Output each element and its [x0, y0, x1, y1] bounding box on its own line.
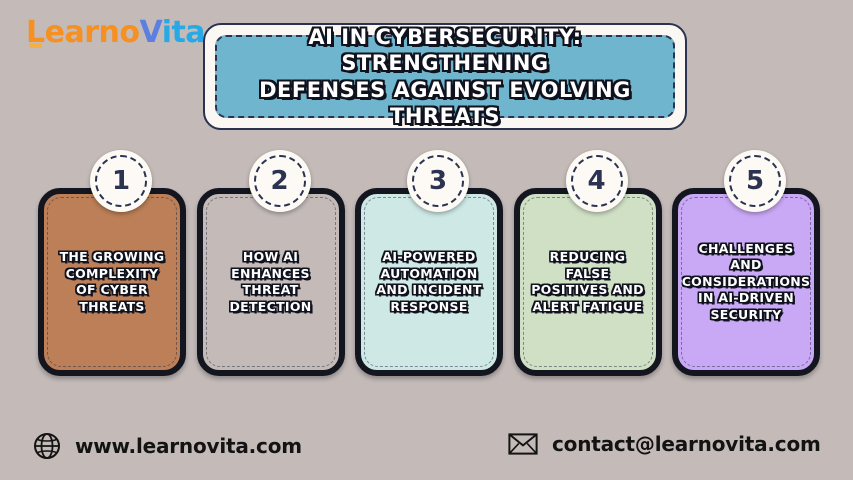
card-label: Challenges and Considerations in AI-Driv… — [681, 241, 811, 324]
title-frame: AI in Cybersecurity: Strengthening Defen… — [203, 23, 687, 130]
title-banner: AI in Cybersecurity: Strengthening Defen… — [215, 35, 675, 118]
card-body-5: Challenges and Considerations in AI-Driv… — [672, 188, 820, 376]
page-title-line-2: Defenses Against Evolving Threats — [259, 78, 631, 128]
card-number-badge: 1 — [90, 150, 152, 212]
card-number-badge: 3 — [407, 150, 469, 212]
card-inner-3: AI-Powered Automation and Incident Respo… — [364, 197, 494, 367]
card-label: How AI Enhances Threat Detection — [207, 249, 335, 315]
card-item[interactable]: Challenges and Considerations in AI-Driv… — [672, 188, 820, 376]
card-inner-2: How AI Enhances Threat Detection — [206, 197, 336, 367]
envelope-icon — [508, 432, 538, 456]
badge-number: 4 — [587, 168, 605, 194]
footer: www.learnovita.com contact@learnovita.co… — [0, 424, 853, 480]
card-item[interactable]: Reducing False Positives and Alert Fatig… — [514, 188, 662, 376]
card-number-badge: 5 — [724, 150, 786, 212]
logo-text-ita: ita — [162, 15, 205, 50]
logo-text-v: V — [139, 15, 161, 50]
globe-icon — [33, 432, 61, 460]
card-label: The Growing Complexity of Cyber Threats — [48, 249, 176, 315]
card-body-1: The Growing Complexity of Cyber Threats — [38, 188, 186, 376]
logo-text-learno: Learno — [26, 15, 139, 50]
card-number-badge: 2 — [249, 150, 311, 212]
badge-number: 1 — [112, 168, 130, 194]
cards-row: The Growing Complexity of Cyber Threats … — [38, 188, 820, 376]
card-inner-5: Challenges and Considerations in AI-Driv… — [681, 197, 811, 367]
card-item[interactable]: AI-Powered Automation and Incident Respo… — [355, 188, 503, 376]
website-url: www.learnovita.com — [75, 434, 302, 458]
card-inner-4: Reducing False Positives and Alert Fatig… — [523, 197, 653, 367]
card-body-2: How AI Enhances Threat Detection — [197, 188, 345, 376]
card-body-3: AI-Powered Automation and Incident Respo… — [355, 188, 503, 376]
brand-logo: LearnoVita — [26, 18, 205, 48]
card-label: AI-Powered Automation and Incident Respo… — [365, 249, 493, 315]
card-inner-1: The Growing Complexity of Cyber Threats — [47, 197, 177, 367]
infographic-canvas: LearnoVita AI in Cybersecurity: Strength… — [0, 0, 853, 480]
badge-number: 3 — [429, 168, 447, 194]
email-address: contact@learnovita.com — [552, 432, 821, 456]
card-number-badge: 4 — [566, 150, 628, 212]
badge-number: 5 — [746, 168, 764, 194]
logo-underscore-mark — [29, 43, 42, 48]
card-label: Reducing False Positives and Alert Fatig… — [524, 249, 652, 315]
footer-website[interactable]: www.learnovita.com — [33, 432, 302, 460]
card-item[interactable]: The Growing Complexity of Cyber Threats … — [38, 188, 186, 376]
card-item[interactable]: How AI Enhances Threat Detection 2 — [197, 188, 345, 376]
card-body-4: Reducing False Positives and Alert Fatig… — [514, 188, 662, 376]
footer-email[interactable]: contact@learnovita.com — [508, 432, 821, 456]
page-title: AI in Cybersecurity: Strengthening Defen… — [217, 24, 673, 129]
page-title-line-1: AI in Cybersecurity: Strengthening — [308, 25, 581, 75]
badge-number: 2 — [270, 168, 288, 194]
